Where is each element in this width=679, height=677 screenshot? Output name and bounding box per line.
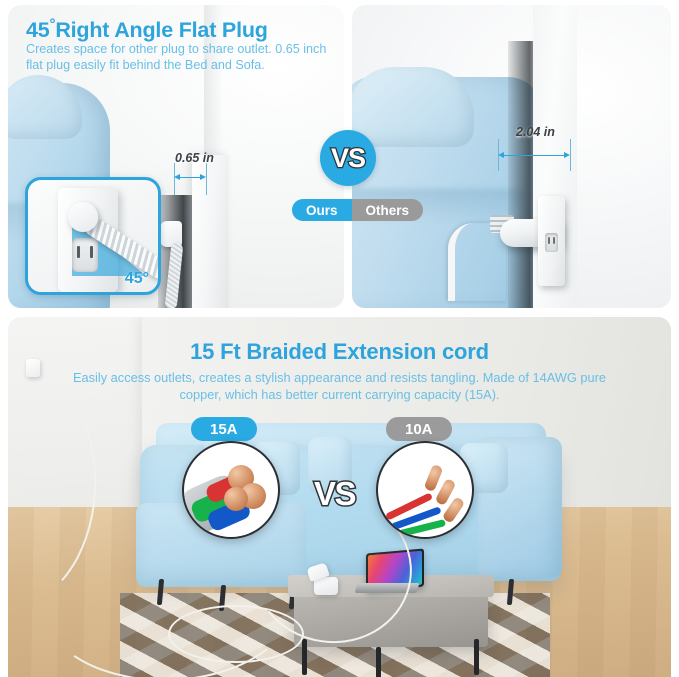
infographic-page: 0.65 in 45° 45°Right Angle Flat Plug Cre… <box>0 0 679 677</box>
plug-cord-right <box>448 223 506 301</box>
angle-label: 45° <box>125 270 149 288</box>
outlet-socket-zoomed <box>72 238 98 272</box>
title-text: Right Angle Flat Plug <box>55 18 267 42</box>
subtitle-left: Creates space for other plug to share ou… <box>26 41 332 73</box>
page-title-bottom: 15 Ft Braided Extension cord <box>8 339 671 365</box>
panel-bulky-plug: 2.04 in <box>352 5 671 308</box>
vs-badge-top: VS <box>320 130 376 186</box>
plug-head-zoomed <box>68 202 98 232</box>
table-leg-1 <box>302 639 307 675</box>
table-leg-3 <box>474 639 479 675</box>
label-others[interactable]: Others <box>352 199 424 221</box>
table-leg-2 <box>376 647 381 677</box>
dimension-label-left: 0.65 in <box>175 151 214 165</box>
zoom-callout-45deg: 45° <box>25 177 161 295</box>
title-number: 45 <box>26 18 50 42</box>
page-title-left: 45°Right Angle Flat Plug <box>26 16 268 43</box>
panel-flat-plug: 0.65 in 45° 45°Right Angle Flat Plug Cre… <box>8 5 344 308</box>
wire-inset-10a <box>376 441 474 539</box>
badge-10a: 10A <box>386 417 452 441</box>
sofa-cushion-right <box>352 67 474 147</box>
vs-label-top: VS <box>331 143 365 174</box>
badge-15a: 15A <box>191 417 257 441</box>
ours-others-toggle[interactable]: Ours Others <box>292 199 423 221</box>
copper-core-3 <box>224 487 248 511</box>
panel-extension-cord: 15A 10A VS 15 Ft Braided Extension cord … <box>8 317 671 677</box>
subtitle-bottom: Easily access outlets, creates a stylish… <box>69 369 611 403</box>
dimension-label-right: 2.04 in <box>516 125 555 139</box>
vs-label-bottom: VS <box>314 475 355 513</box>
outlet-socket-right <box>545 233 558 252</box>
label-ours[interactable]: Ours <box>292 199 352 221</box>
wire-inset-15a <box>182 441 280 539</box>
